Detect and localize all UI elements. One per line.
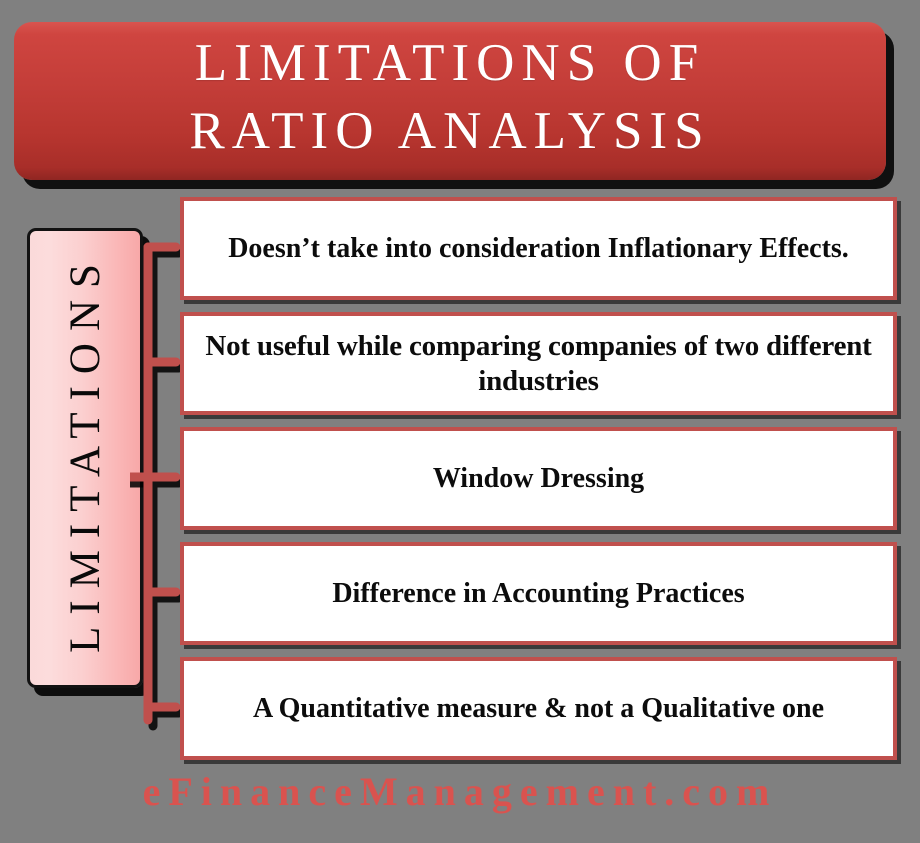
title-banner: LIMITATIONS OF RATIO ANALYSIS xyxy=(14,22,886,180)
sidebar-limitations-box: LIMITATIONS xyxy=(27,228,143,688)
list-item[interactable]: Difference in Accounting Practices xyxy=(180,542,897,645)
list-item-label: Not useful while comparing companies of … xyxy=(190,329,887,397)
list-item[interactable]: A Quantitative measure & not a Qualitati… xyxy=(180,657,897,760)
list-item[interactable]: Doesn’t take into consideration Inflatio… xyxy=(180,197,897,300)
sidebar-limitations-label: LIMITATIONS xyxy=(61,252,110,665)
brand-watermark: eFinanceManagement.com xyxy=(0,768,920,815)
limitations-list: Doesn’t take into consideration Inflatio… xyxy=(180,197,897,772)
page-title: LIMITATIONS OF RATIO ANALYSIS xyxy=(189,30,710,166)
list-item[interactable]: Window Dressing xyxy=(180,427,897,530)
list-item-label: Window Dressing xyxy=(190,462,887,495)
list-item-label: A Quantitative measure & not a Qualitati… xyxy=(190,692,887,725)
list-item-label: Difference in Accounting Practices xyxy=(190,577,887,610)
list-item[interactable]: Not useful while comparing companies of … xyxy=(180,312,897,415)
list-item-label: Doesn’t take into consideration Inflatio… xyxy=(190,232,887,265)
